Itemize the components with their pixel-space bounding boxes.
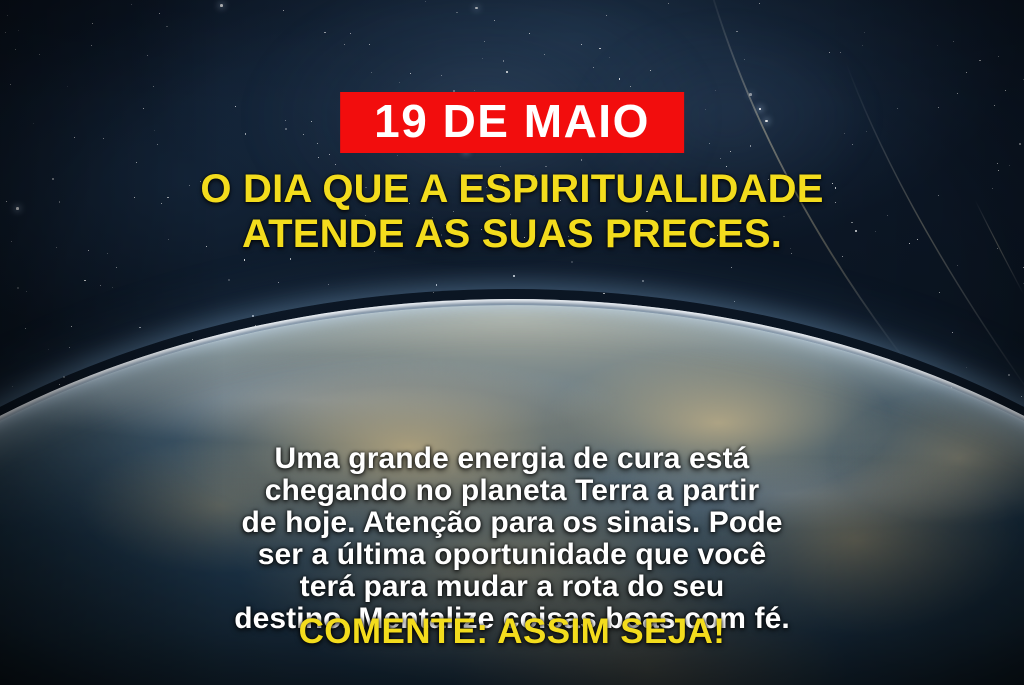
poster-content: 19 DE MAIO O DIA QUE A ESPIRITUALIDADE A… [0,0,1024,685]
body-copy-line-1: Uma grande energia de cura está [56,443,968,475]
headline: O DIA QUE A ESPIRITUALIDADE ATENDE AS SU… [0,167,1024,257]
body-copy-line-4: ser a última oportunidade que você [56,539,968,571]
date-banner-label: 19 DE MAIO [374,99,650,143]
body-copy-line-2: chegando no planeta Terra a partir [56,475,968,507]
body-copy-line-3: de hoje. Atenção para os sinais. Pode [56,507,968,539]
date-banner: 19 DE MAIO [340,92,684,153]
body-copy-line-5: terá para mudar a rota do seu [56,571,968,603]
headline-line-1: O DIA QUE A ESPIRITUALIDADE [28,167,996,212]
headline-line-2: ATENDE AS SUAS PRECES. [28,212,996,257]
call-to-action-text: COMENTE: ASSIM SEJA! [0,613,1024,651]
poster-canvas: 19 DE MAIO O DIA QUE A ESPIRITUALIDADE A… [0,0,1024,685]
body-copy: Uma grande energia de cura está chegando… [0,443,1024,635]
